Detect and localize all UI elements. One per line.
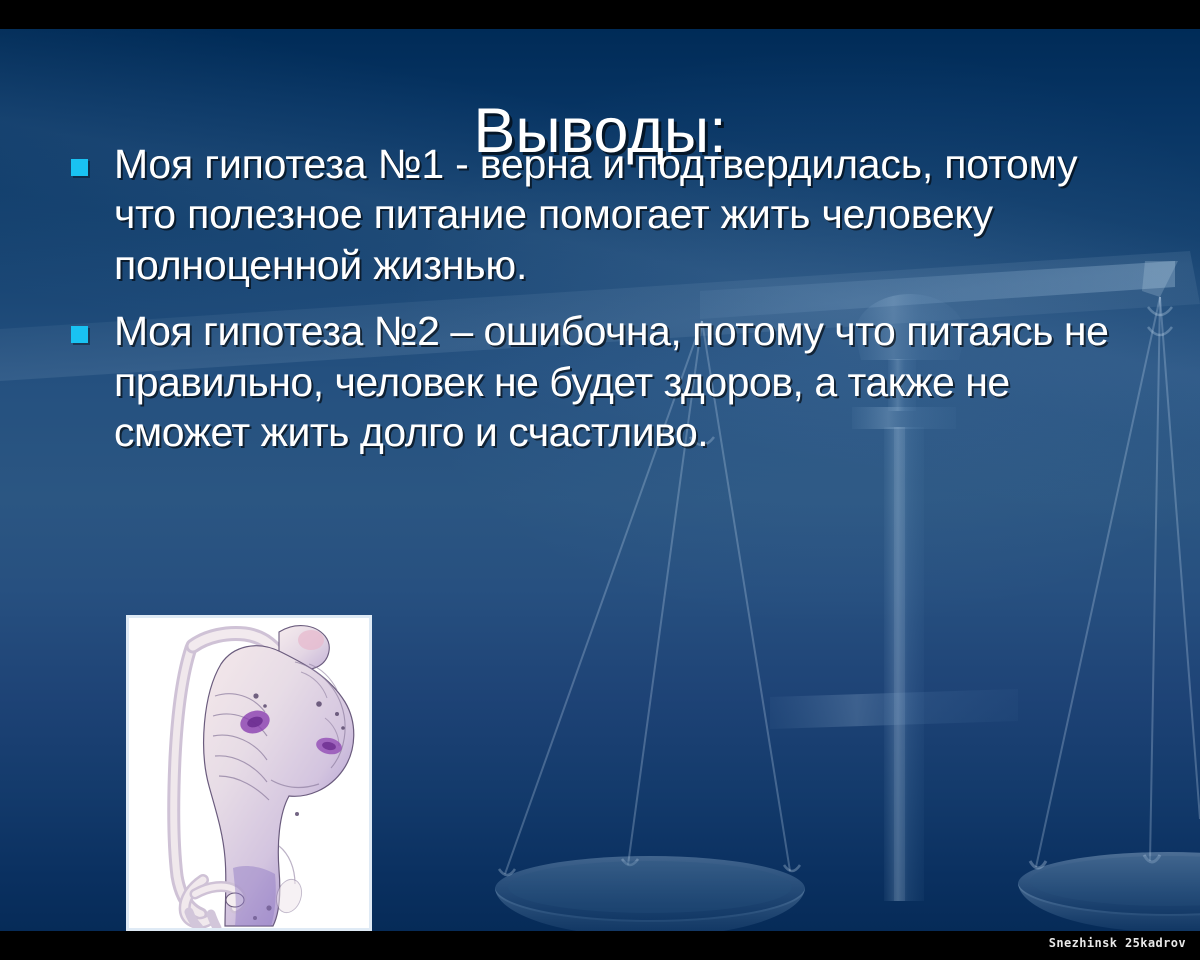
source-watermark: Snezhinsk 25kadrov — [1049, 936, 1186, 950]
stomach-illustration-graphic — [129, 618, 369, 928]
stomach-ulcer-illustration — [126, 615, 372, 931]
square-bullet-icon — [71, 326, 88, 343]
bullet-list: Моя гипотеза №1 - верна и подтвердилась,… — [62, 139, 1122, 474]
square-bullet-icon — [71, 159, 88, 176]
bullet-text: Моя гипотеза №1 - верна и подтвердилась,… — [114, 139, 1122, 290]
list-item: Моя гипотеза №1 - верна и подтвердилась,… — [62, 139, 1122, 290]
bullet-text: Моя гипотеза №2 – ошибочна, потому что п… — [114, 306, 1122, 457]
letterbox-bar-top — [0, 0, 1200, 29]
list-item: Моя гипотеза №2 – ошибочна, потому что п… — [62, 306, 1122, 457]
letterbox-bar-bottom — [0, 931, 1200, 960]
presentation-slide: Выводы: Моя гипотеза №1 - верна и подтве… — [0, 0, 1200, 960]
slide-canvas: Выводы: Моя гипотеза №1 - верна и подтве… — [0, 29, 1200, 931]
